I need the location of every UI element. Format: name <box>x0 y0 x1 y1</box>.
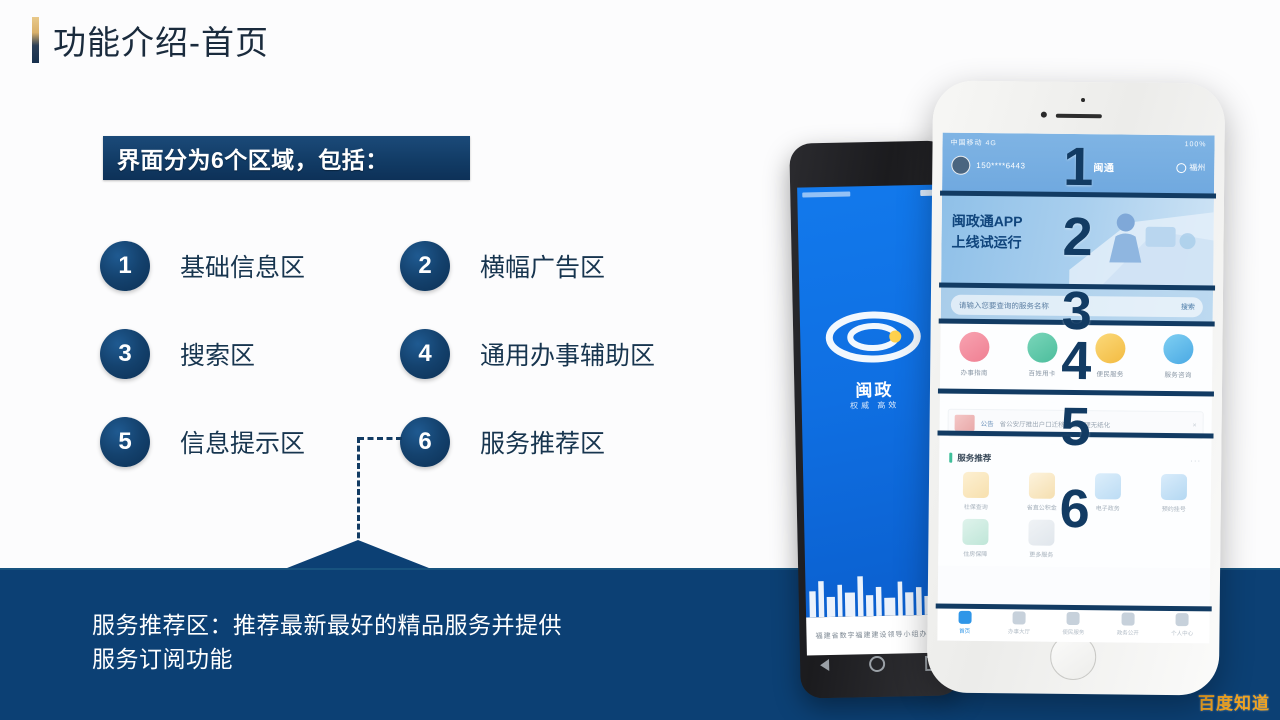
section-heading-text: 界面分为6个区域，包括： <box>117 141 389 175</box>
region-bullet-3: 3 <box>100 329 150 379</box>
person-icon <box>1176 613 1189 626</box>
region-list: 1 基础信息区 2 横幅广告区 3 搜索区 4 通用办事辅助区 5 信息提示区 <box>100 222 720 486</box>
tab-label: 首页 <box>937 627 991 636</box>
service-label: 省直公积金 <box>1009 502 1075 512</box>
tab-label: 办事大厅 <box>992 627 1046 636</box>
region-bullet-4: 4 <box>400 329 450 379</box>
region-label-1: 基础信息区 <box>180 248 305 284</box>
section-heading-box: 界面分为6个区域，包括： <box>103 136 470 180</box>
egov-icon <box>1095 473 1121 499</box>
tab-label: 政务公开 <box>1101 628 1155 637</box>
app-recommend-region: 服务推荐 ··· 社保查询 省直公积金 <box>938 444 1211 569</box>
recommend-title: 服务推荐 <box>957 452 991 464</box>
region-list-row: 1 基础信息区 2 横幅广告区 <box>100 222 720 310</box>
region-item-6: 6 服务推荐区 <box>400 417 700 467</box>
section-accent-bar <box>949 453 952 463</box>
phone-icon <box>1163 334 1193 364</box>
region-bullet-2: 2 <box>400 241 450 291</box>
region-item-1: 1 基础信息区 <box>100 241 400 291</box>
callout-line-2: 服务订阅功能 <box>92 642 712 676</box>
banner-ad-text: 闽政通APP 上线试运行 <box>951 211 1022 254</box>
quick-action-3[interactable]: 便民服务 <box>1086 333 1134 379</box>
heart-icon <box>1067 612 1080 625</box>
app-notice-region: 公告 省公安厅推出户口迁移网上办理无纸化 × <box>939 402 1211 447</box>
banner-peak <box>282 540 434 570</box>
region-bullet-1: 1 <box>100 241 150 291</box>
quick-action-4[interactable]: 服务咨询 <box>1154 334 1202 380</box>
user-identity[interactable]: 150****6443 <box>951 156 1025 176</box>
search-input[interactable]: 请输入您要查询的服务名称 搜索 <box>951 295 1203 318</box>
android-home-icon[interactable] <box>869 656 885 672</box>
service-label: 电子政务 <box>1075 503 1141 513</box>
region-item-3: 3 搜索区 <box>100 329 400 379</box>
document-icon <box>959 332 989 362</box>
quick-action-2[interactable]: 百姓用卡 <box>1018 332 1066 378</box>
city-label: 福州 <box>1189 162 1205 173</box>
news-icon <box>1121 612 1134 625</box>
service-item[interactable]: 省直公积金 <box>1009 472 1075 512</box>
quick-action-1[interactable]: 办事指南 <box>950 332 998 378</box>
proximity-sensor-icon <box>1041 112 1047 118</box>
iphone-screen: 中国移动 4G 100% 150****6443 闽通 福州 <box>937 133 1214 644</box>
service-item[interactable]: 更多服务 <box>1008 519 1074 559</box>
tab-label: 便民服务 <box>1046 628 1100 637</box>
search-button[interactable]: 搜索 <box>1181 302 1195 312</box>
notice-tag: 公告 <box>981 418 994 428</box>
service-label: 预约挂号 <box>1141 504 1207 514</box>
android-footer-text: 福建省数字福建建设领导小组办公室 <box>815 629 943 642</box>
region-bullet-6: 6 <box>400 417 450 467</box>
tab-gov-open[interactable]: 政务公开 <box>1101 612 1156 637</box>
banner-ad-line-1: 闽政通APP <box>952 211 1023 233</box>
social-security-icon <box>963 472 989 498</box>
banner-illustration-icon <box>1069 200 1214 290</box>
region-label-2: 横幅广告区 <box>480 248 605 284</box>
close-icon[interactable]: × <box>1192 422 1196 429</box>
notice-bar[interactable]: 公告 省公安厅推出户口迁移网上办理无纸化 × <box>947 409 1203 440</box>
city-selector[interactable]: 福州 <box>1176 162 1205 173</box>
status-battery-text: 100% <box>1185 141 1207 148</box>
service-label: 社保查询 <box>943 502 1009 512</box>
recommend-title-group: 服务推荐 <box>949 452 991 464</box>
notice-text: 省公安厅推出户口迁移网上办理无纸化 <box>1000 418 1187 430</box>
app-quick-actions-region: 办事指南 百姓用卡 便民服务 服务咨询 <box>940 323 1213 405</box>
app-user-row: 150****6443 闽通 福州 <box>942 150 1214 178</box>
callout-line-1: 服务推荐区：推荐最新最好的精品服务并提供 <box>92 608 712 642</box>
service-item[interactable]: 预约挂号 <box>1141 474 1207 514</box>
region-item-2: 2 横幅广告区 <box>400 241 700 291</box>
front-camera-icon <box>1081 98 1085 102</box>
service-label: 住房保障 <box>942 549 1008 559</box>
app-swirl-logo-icon <box>825 305 922 369</box>
region-bullet-5: 5 <box>100 417 150 467</box>
tab-home[interactable]: 首页 <box>937 611 992 636</box>
region-label-4: 通用办事辅助区 <box>480 336 655 372</box>
android-back-icon[interactable] <box>820 659 829 671</box>
region-list-row: 3 搜索区 4 通用办事辅助区 <box>100 310 720 398</box>
card-icon <box>1027 332 1057 362</box>
iphone-mockup: 中国移动 4G 100% 150****6443 闽通 福州 <box>927 80 1225 695</box>
location-pin-icon <box>1176 163 1186 173</box>
service-grid: 社保查询 省直公积金 电子政务 预约挂号 <box>938 470 1211 569</box>
status-carrier-text: 中国移动 4G <box>951 137 997 147</box>
quick-action-label-2: 百姓用卡 <box>1018 367 1066 378</box>
region-list-row: 5 信息提示区 6 服务推荐区 <box>100 398 720 486</box>
connector-vertical <box>357 437 360 547</box>
tab-label: 个人中心 <box>1155 629 1209 638</box>
slide-canvas: 功能介绍-首页 界面分为6个区域，包括： 1 基础信息区 2 横幅广告区 3 搜… <box>0 0 1280 720</box>
avatar[interactable] <box>951 156 970 175</box>
page-title: 功能介绍-首页 <box>32 16 269 64</box>
service-item[interactable]: 电子政务 <box>1075 473 1141 513</box>
banner-ad-line-2: 上线试运行 <box>951 232 1022 254</box>
region-item-5: 5 信息提示区 <box>100 417 400 467</box>
earpiece-speaker-icon <box>1056 114 1102 118</box>
region-label-6: 服务推荐区 <box>480 424 605 460</box>
region-item-4: 4 通用办事辅助区 <box>400 329 700 379</box>
title-accent-bar <box>32 17 39 63</box>
android-carrier-text <box>802 191 850 197</box>
list-icon <box>1095 333 1125 363</box>
tab-convenience[interactable]: 便民服务 <box>1046 612 1101 637</box>
app-banner-ad-region[interactable]: 闽政通APP 上线试运行 <box>941 195 1214 290</box>
appointment-icon <box>1161 474 1187 500</box>
notice-thumbnail-icon <box>955 415 975 431</box>
user-id-text: 150****6443 <box>976 161 1025 171</box>
title-text: 功能介绍-首页 <box>53 16 269 64</box>
housing-icon <box>962 519 988 545</box>
more-services-icon <box>1028 520 1054 546</box>
service-item[interactable]: 社保查询 <box>943 472 1009 512</box>
service-item[interactable]: 住房保障 <box>942 519 1008 559</box>
callout-text: 服务推荐区：推荐最新最好的精品服务并提供 服务订阅功能 <box>92 608 712 676</box>
home-icon <box>958 611 971 624</box>
quick-action-label-1: 办事指南 <box>950 367 998 378</box>
region-label-3: 搜索区 <box>180 336 255 372</box>
tab-profile[interactable]: 个人中心 <box>1155 613 1210 638</box>
app-basic-info-region: 中国移动 4G 100% 150****6443 闽通 福州 <box>942 133 1215 198</box>
fund-icon <box>1029 473 1055 499</box>
phone-mockups: 闽政 权威 高效 福建省数字福建建设领导小组办公室 <box>770 60 1240 720</box>
app-tab-bar: 首页 办事大厅 便民服务 政务公开 <box>937 604 1209 644</box>
quick-action-label-4: 服务咨询 <box>1154 369 1202 380</box>
app-search-region: 请输入您要查询的服务名称 搜索 <box>941 287 1213 326</box>
android-tagline-text: 权威 高效 <box>802 398 948 412</box>
more-icon[interactable]: ··· <box>1190 456 1201 465</box>
quick-action-label-3: 便民服务 <box>1086 368 1134 379</box>
hall-icon <box>1013 611 1026 624</box>
android-status-bar <box>802 188 938 200</box>
region-label-5: 信息提示区 <box>180 424 305 460</box>
connector-horizontal <box>358 437 402 440</box>
search-placeholder-text: 请输入您要查询的服务名称 <box>959 299 1049 311</box>
service-label: 更多服务 <box>1008 549 1074 559</box>
app-name-text: 闽通 <box>1093 159 1114 174</box>
tab-service-hall[interactable]: 办事大厅 <box>992 611 1047 636</box>
